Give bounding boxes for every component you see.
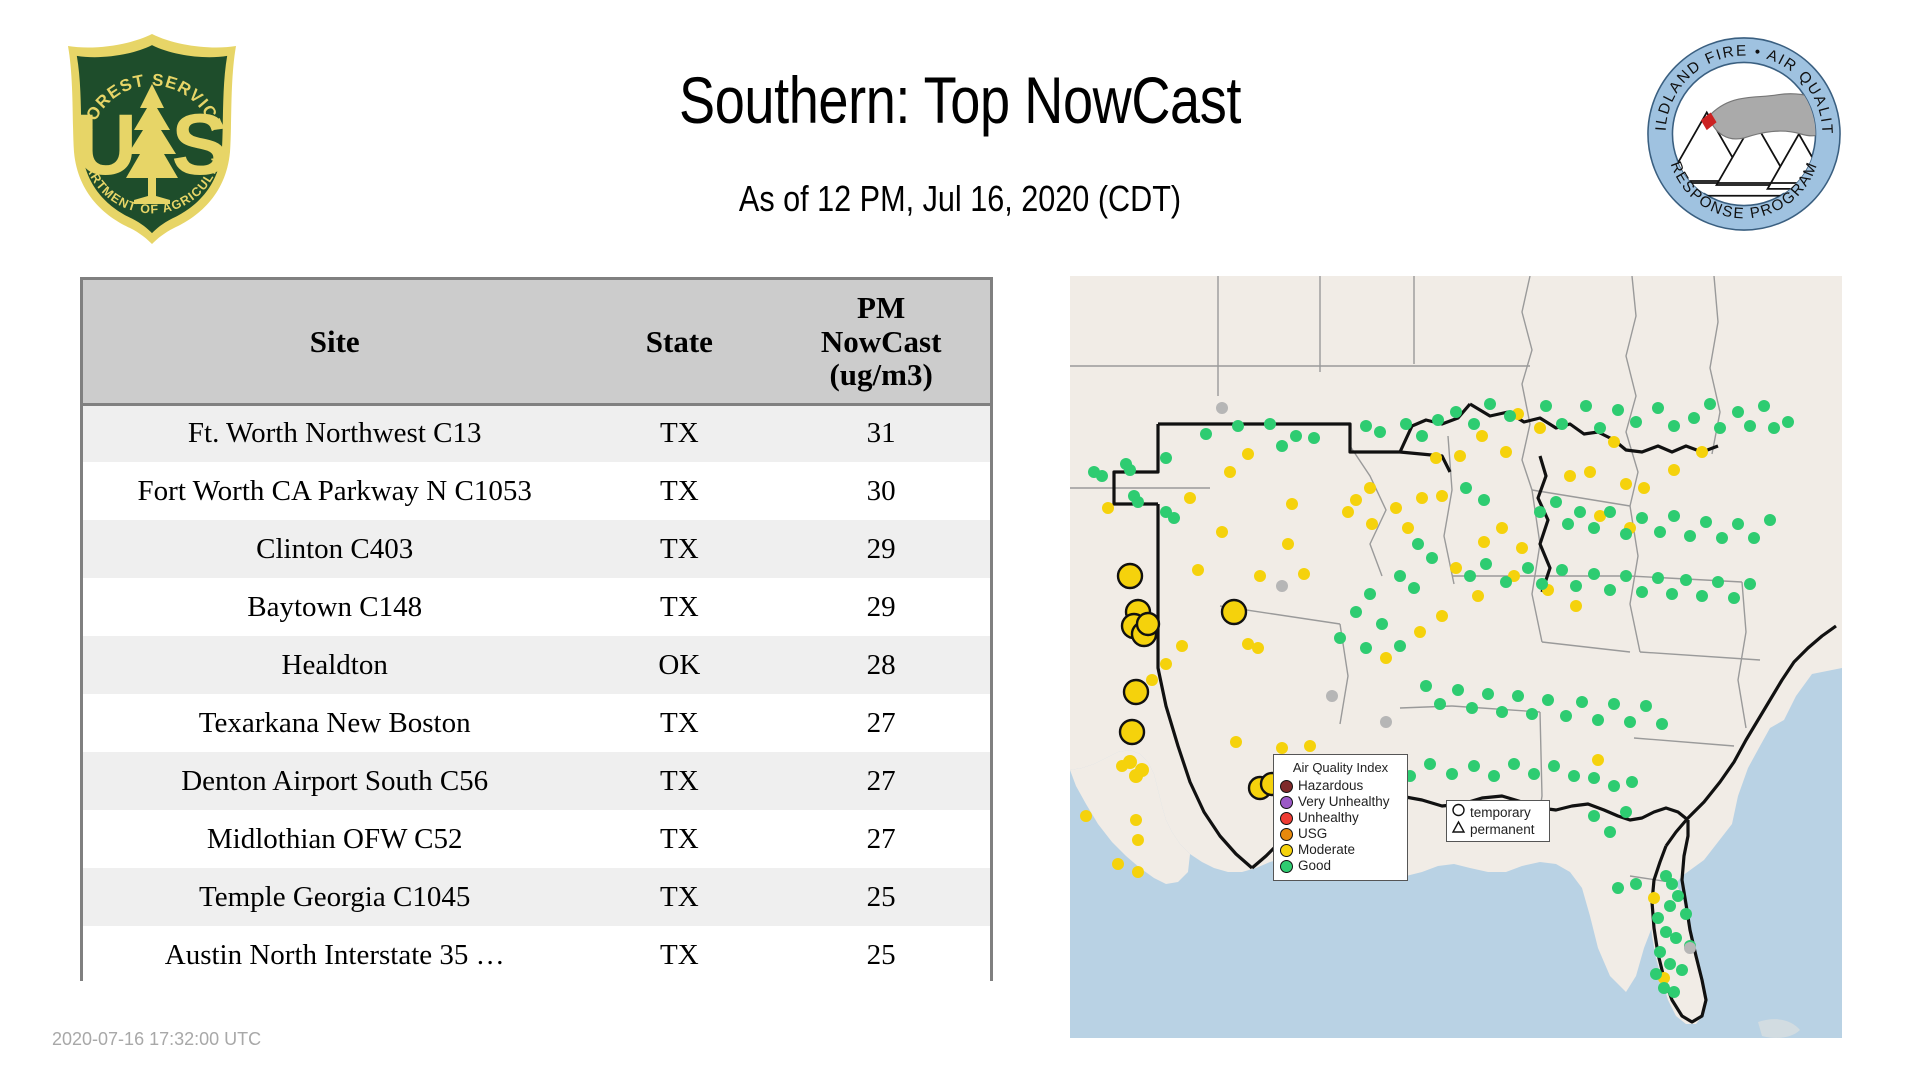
cell-site: Temple Georgia C1045 (83, 868, 586, 926)
aqi-legend-swatch-icon (1280, 796, 1293, 809)
cell-site: Healdton (83, 636, 586, 694)
monitor-type-item: temporary (1451, 804, 1545, 821)
cell-site: Texarkana New Boston (83, 694, 586, 752)
aqi-legend-item: Very Unhealthy (1280, 794, 1401, 810)
generation-timestamp: 2020-07-16 17:32:00 UTC (52, 1029, 261, 1050)
map-dot-large[interactable] (1124, 680, 1148, 704)
aqi-legend-swatch-icon (1280, 828, 1293, 841)
monitor-type-items: temporarypermanent (1451, 804, 1545, 838)
cell-pm-nowcast: 27 (772, 752, 990, 810)
aqi-legend-label: USG (1298, 827, 1327, 841)
map-dot-large[interactable] (1222, 600, 1246, 624)
table-row: Denton Airport South C56TX27 (83, 752, 990, 810)
cell-site: Midlothian OFW C52 (83, 810, 586, 868)
table-row: Ft. Worth Northwest C13TX31 (83, 404, 990, 462)
cell-site: Ft. Worth Northwest C13 (83, 404, 586, 462)
aqi-legend-items: HazardousVery UnhealthyUnhealthyUSGModer… (1280, 778, 1401, 874)
table-row: Baytown C148TX29 (83, 578, 990, 636)
cell-pm-nowcast: 28 (772, 636, 990, 694)
top-nowcast-table: Site State PM NowCast (ug/m3) Ft. Worth … (80, 277, 993, 981)
cell-site: Baytown C148 (83, 578, 586, 636)
cell-site: Clinton C403 (83, 520, 586, 578)
column-header-pm-nowcast: PM NowCast (ug/m3) (772, 280, 990, 404)
monitor-type-label: temporary (1470, 806, 1531, 820)
cell-state: TX (586, 578, 772, 636)
cell-state: TX (586, 404, 772, 462)
table-row: Austin North Interstate 35 …TX25 (83, 926, 990, 984)
usfs-letter-s: S (171, 97, 228, 193)
cell-pm-nowcast: 25 (772, 926, 990, 984)
aqi-legend-item: Unhealthy (1280, 810, 1401, 826)
cell-site: Fort Worth CA Parkway N C1053 (83, 462, 586, 520)
cell-pm-nowcast: 30 (772, 462, 990, 520)
cell-pm-nowcast: 31 (772, 404, 990, 462)
aqi-legend-label: Unhealthy (1298, 811, 1359, 825)
wfaqrp-logo: WILDLAND FIRE • AIR QUALITY RESPONSE PRO… (1646, 36, 1842, 232)
table-row: Texarkana New BostonTX27 (83, 694, 990, 752)
aqi-legend-label: Good (1298, 859, 1331, 873)
column-header-state: State (586, 280, 772, 404)
table-row: Clinton C403TX29 (83, 520, 990, 578)
aqi-legend-label: Very Unhealthy (1298, 795, 1390, 809)
cell-pm-nowcast: 29 (772, 578, 990, 636)
aqi-legend-item: Hazardous (1280, 778, 1401, 794)
aqi-legend-label: Hazardous (1298, 779, 1363, 793)
usfs-letter-u: U (75, 97, 137, 193)
aqi-legend-item: Moderate (1280, 842, 1401, 858)
table-header-row: Site State PM NowCast (ug/m3) (83, 280, 990, 404)
aqi-legend: Air Quality Index HazardousVery Unhealth… (1273, 754, 1408, 881)
cell-state: TX (586, 810, 772, 868)
aqi-legend-swatch-icon (1280, 844, 1293, 857)
aqi-monitor-map[interactable] (1070, 276, 1842, 1038)
slide-root: FOREST SERVICE DEPARTMENT OF AGRICULTURE… (0, 0, 1920, 1080)
cell-state: TX (586, 462, 772, 520)
cell-site: Austin North Interstate 35 … (83, 926, 586, 984)
aqi-legend-title: Air Quality Index (1280, 760, 1401, 775)
map-dot-large[interactable] (1118, 564, 1142, 588)
monitor-type-label: permanent (1470, 823, 1535, 837)
cell-pm-nowcast: 25 (772, 868, 990, 926)
table-row: HealdtonOK28 (83, 636, 990, 694)
table-row: Temple Georgia C1045TX25 (83, 868, 990, 926)
table-row: Fort Worth CA Parkway N C1053TX30 (83, 462, 990, 520)
monitor-type-legend: temporarypermanent (1446, 800, 1550, 842)
page-title: Southern: Top NowCast (419, 62, 1501, 138)
page-subtitle: As of 12 PM, Jul 16, 2020 (CDT) (399, 178, 1521, 220)
table-body: Ft. Worth Northwest C13TX31Fort Worth CA… (83, 404, 990, 984)
permanent-triangle-icon (1451, 820, 1466, 840)
cell-pm-nowcast: 27 (772, 810, 990, 868)
aqi-legend-item: USG (1280, 826, 1401, 842)
cell-pm-nowcast: 27 (772, 694, 990, 752)
cell-state: TX (586, 694, 772, 752)
cell-state: TX (586, 868, 772, 926)
aqi-legend-label: Moderate (1298, 843, 1355, 857)
usfs-forest-service-logo: FOREST SERVICE DEPARTMENT OF AGRICULTURE… (52, 28, 252, 246)
column-header-site: Site (83, 280, 586, 404)
map-dot-large[interactable] (1137, 613, 1159, 635)
cell-state: TX (586, 520, 772, 578)
cell-state: TX (586, 926, 772, 984)
cell-state: OK (586, 636, 772, 694)
aqi-legend-swatch-icon (1280, 812, 1293, 825)
aqi-legend-swatch-icon (1280, 860, 1293, 873)
cell-pm-nowcast: 29 (772, 520, 990, 578)
cell-state: TX (586, 752, 772, 810)
aqi-legend-item: Good (1280, 858, 1401, 874)
monitor-type-item: permanent (1451, 821, 1545, 838)
aqi-legend-swatch-icon (1280, 780, 1293, 793)
table-row: Midlothian OFW C52TX27 (83, 810, 990, 868)
cell-site: Denton Airport South C56 (83, 752, 586, 810)
map-dot-large[interactable] (1120, 720, 1144, 744)
